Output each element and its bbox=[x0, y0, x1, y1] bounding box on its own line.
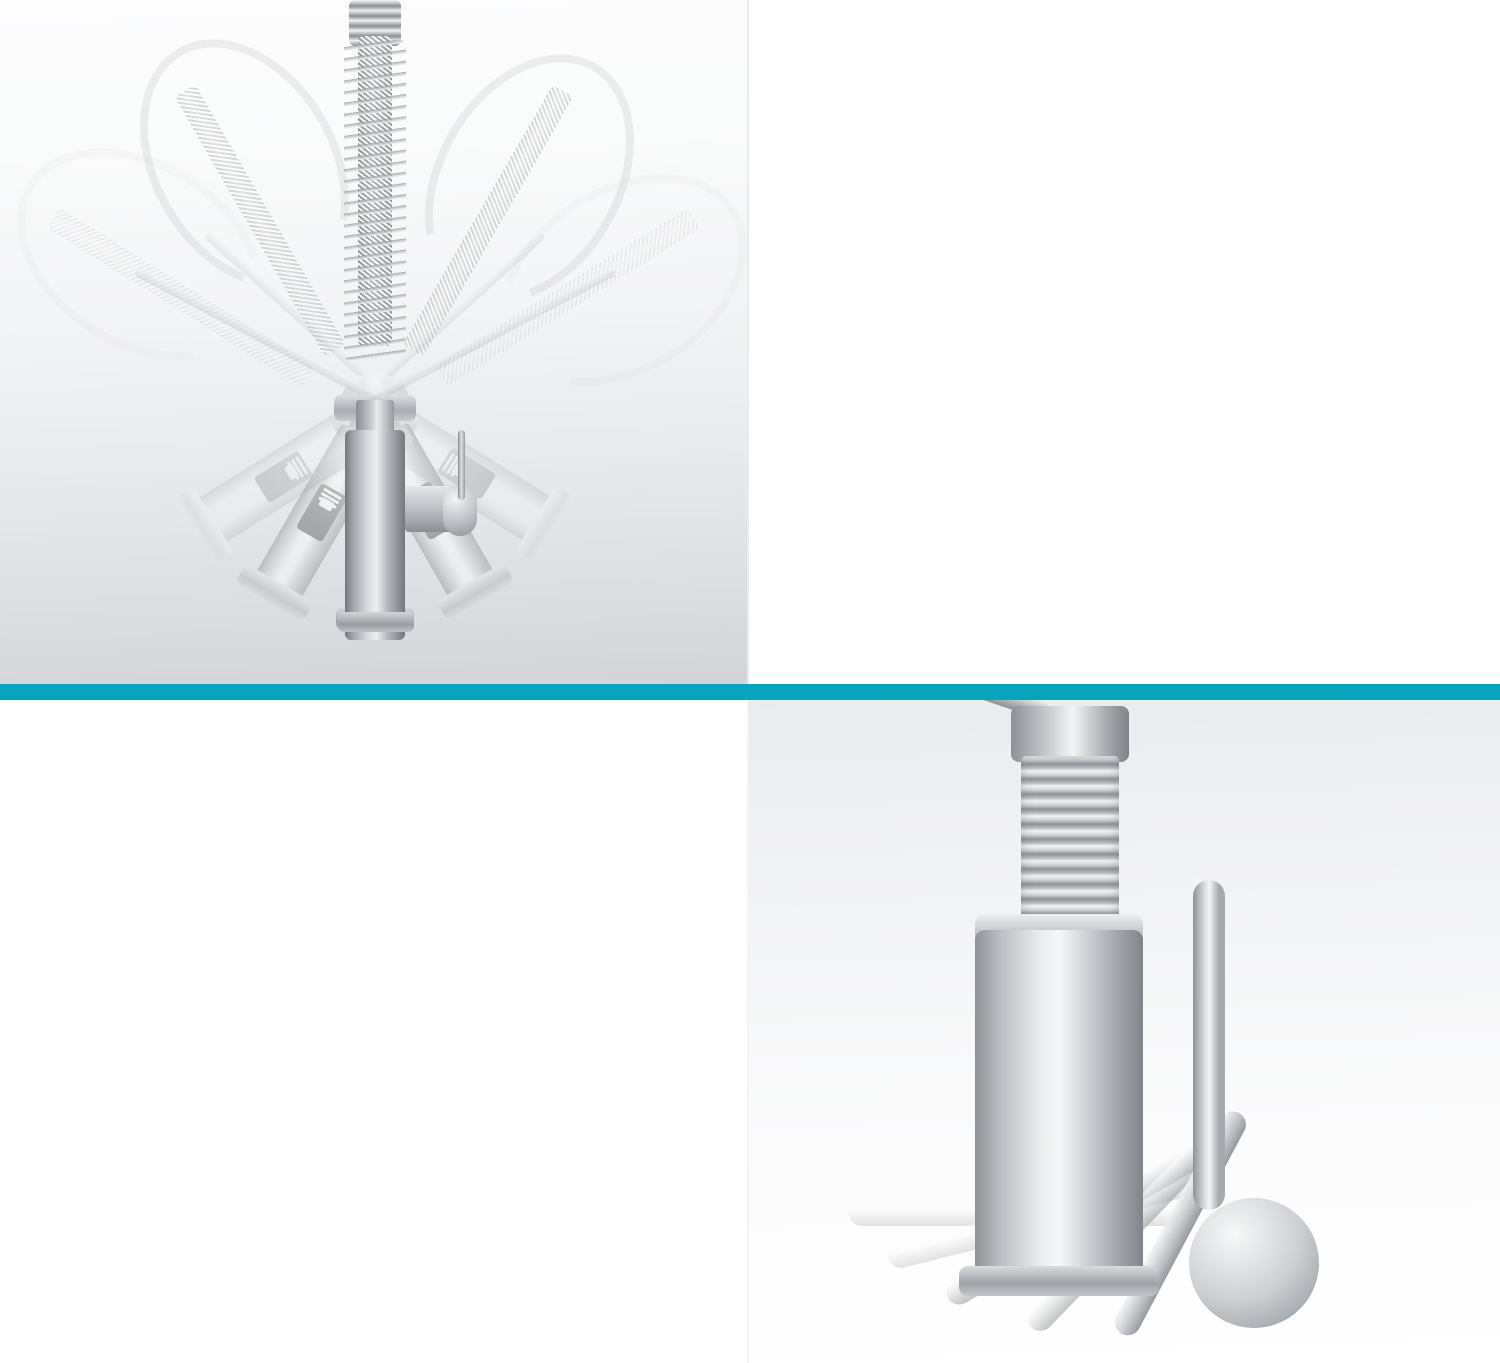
faucet-column bbox=[345, 430, 405, 640]
teal-horizontal-divider bbox=[0, 684, 1500, 700]
vertical-divider-top bbox=[747, 0, 749, 684]
vertical-divider-bottom bbox=[747, 700, 749, 1363]
handle-lever-stem bbox=[458, 430, 465, 500]
infographic-page: FAUCET SWIVELS 180° Heavy-duty spout rot… bbox=[0, 0, 1500, 1363]
handle-rotation-illustration bbox=[749, 700, 1500, 1363]
spring-collar-cap bbox=[1011, 706, 1129, 762]
faucet-base-closeup bbox=[959, 1266, 1159, 1296]
faucet-swivel-illustration bbox=[0, 0, 749, 684]
single-lever-image-panel bbox=[749, 700, 1500, 1363]
lever-final-position-knob bbox=[1189, 1198, 1319, 1328]
faucet-swivel-text-panel: FAUCET SWIVELS 180° Heavy-duty spout rot… bbox=[749, 0, 1500, 684]
faucet-body-closeup bbox=[975, 930, 1143, 1280]
lever-final-position-stem bbox=[1193, 880, 1225, 1210]
coil-spring-closeup bbox=[1021, 756, 1119, 928]
faucet-base-flange bbox=[338, 612, 414, 632]
single-lever-text-panel: SINGLE LEVER HANDLE W/ 90° FORWARD ROTAT… bbox=[0, 700, 749, 1363]
coil-spring bbox=[344, 40, 406, 360]
faucet-swivel-image-panel bbox=[0, 0, 749, 684]
